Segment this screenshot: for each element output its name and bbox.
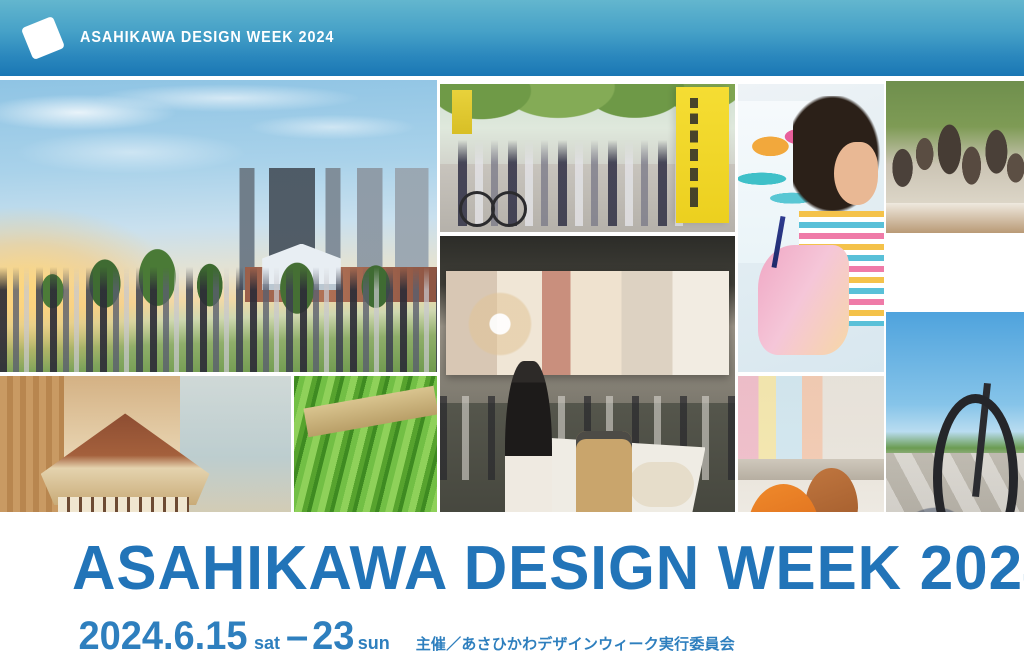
photo-exhibition-banner-layer bbox=[446, 271, 729, 375]
event-start-date: 2024.6.15 bbox=[78, 616, 247, 656]
event-date-row: 2024.6.15 sat – 23 sun 主催／あさひかわデザインウィーク実… bbox=[74, 614, 735, 659]
page-title: ASAHIKAWA DESIGN WEEK 2024 bbox=[72, 538, 1024, 600]
child-painting-photo[interactable] bbox=[738, 84, 884, 372]
diamond-logo-icon[interactable] bbox=[21, 16, 65, 60]
photo-crowd-layer bbox=[0, 267, 437, 372]
event-end-weekday: sun bbox=[358, 633, 390, 654]
photo-backdrop-layer bbox=[738, 376, 884, 468]
date-range-dash: – bbox=[286, 614, 308, 659]
photo-collage bbox=[0, 76, 1024, 510]
header-title: ASAHIKAWA DESIGN WEEK 2024 bbox=[80, 29, 334, 47]
photo-yellow-banner-layer bbox=[676, 87, 729, 223]
organizer-text: 主催／あさひかわデザインウィーク実行委員会 bbox=[416, 633, 735, 654]
wood-crafts-photo[interactable] bbox=[886, 81, 1024, 233]
event-start-weekday: sat bbox=[254, 633, 280, 654]
photo-sofa-layer bbox=[629, 462, 694, 507]
photo-shelf-layer bbox=[738, 459, 884, 480]
photo-wooden-figures-layer bbox=[886, 96, 1024, 212]
event-end-date: 23 bbox=[312, 616, 354, 656]
site-header: ASAHIKAWA DESIGN WEEK 2024 bbox=[0, 0, 1024, 76]
photo-display-table-layer bbox=[886, 203, 1024, 233]
poster-title-block: ASAHIKAWA DESIGN WEEK 2024 2024.6.15 sat… bbox=[0, 512, 1024, 665]
photo-child-face-layer bbox=[834, 142, 878, 205]
photo-small-banner-layer bbox=[452, 90, 473, 134]
photo-bicycle-layer bbox=[458, 176, 523, 229]
street-festival-photo[interactable] bbox=[440, 84, 735, 232]
park-crowd-sunset-photo[interactable] bbox=[0, 80, 437, 372]
